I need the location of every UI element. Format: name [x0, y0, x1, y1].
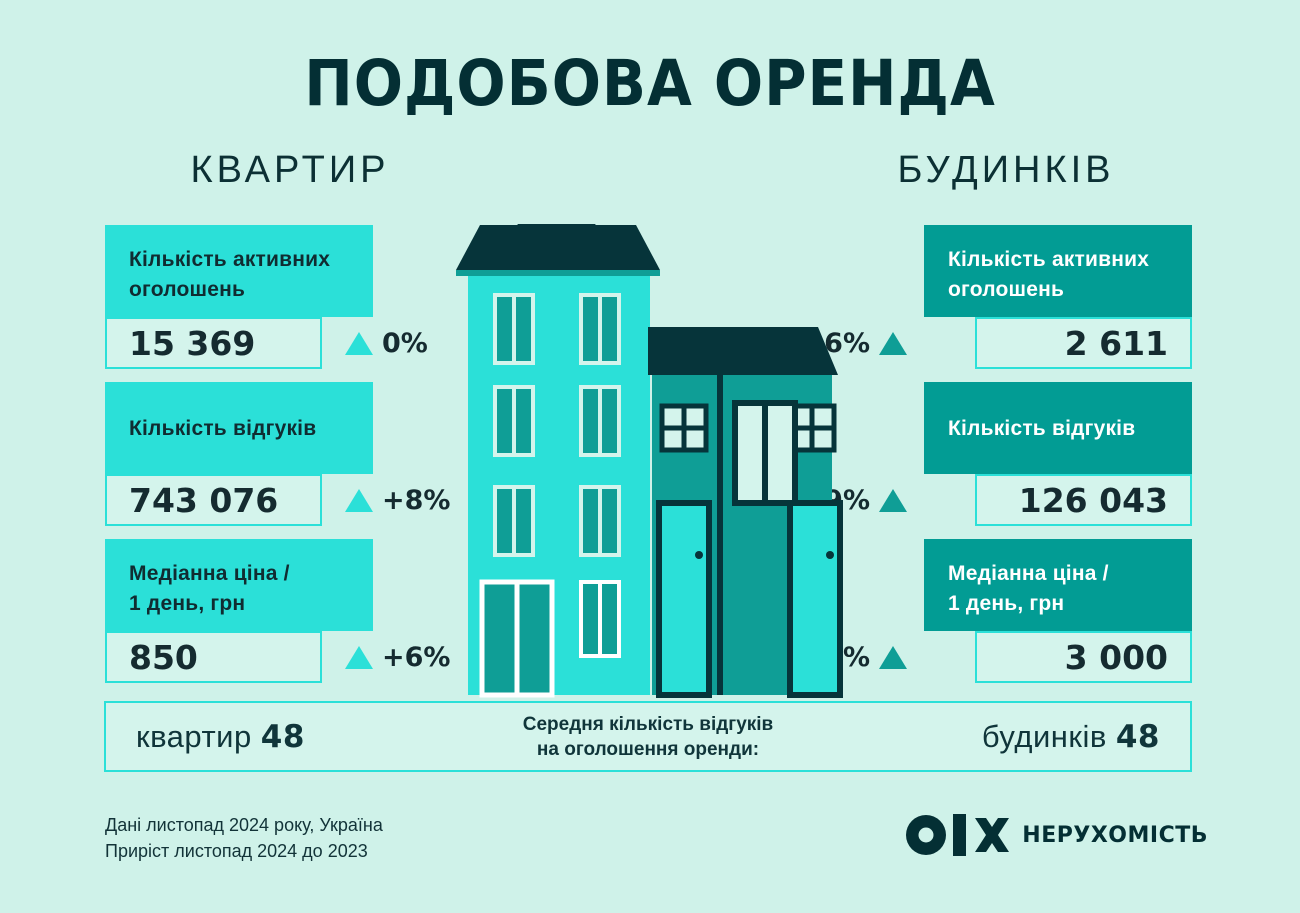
average-label-houses: будинків — [982, 719, 1107, 755]
card-value-box: 126 043 — [975, 474, 1192, 526]
card-label-text: Кількість активних оголошень — [948, 248, 1149, 301]
card-value: 126 043 — [1019, 484, 1168, 517]
card-label-text: Кількість активних оголошень — [129, 248, 330, 301]
card-value: 2 611 — [1065, 327, 1168, 360]
card-value-row: 743 076 +8% — [105, 474, 373, 526]
card-value-box: 3 000 — [975, 631, 1192, 683]
footnote-line-2: Приріст листопад 2024 до 2023 — [105, 838, 383, 864]
olx-mark-icon — [905, 814, 1009, 856]
average-responses-houses: будинків 48 — [982, 703, 1160, 770]
triangle-up-icon — [879, 646, 907, 669]
card-label: Кількість відгуків — [105, 382, 373, 474]
card-delta: +8% — [345, 474, 450, 526]
card-value-row: 850 +6% — [105, 631, 373, 683]
card-label: Медіанна ціна / 1 день, грн — [105, 539, 373, 631]
card-value-box: 15 369 — [105, 317, 322, 369]
olx-logo: НЕРУХОМІСТЬ — [905, 814, 1208, 856]
card-value-row: 126 043 +9% — [924, 474, 1192, 526]
triangle-up-icon — [879, 332, 907, 355]
column-heading-apartments: КВАРТИР — [105, 148, 475, 192]
triangle-up-icon — [879, 489, 907, 512]
card-value-box: 850 — [105, 631, 322, 683]
average-value-apartments: 48 — [261, 719, 305, 755]
card-value-row: 2 611 +16% — [924, 317, 1192, 369]
triangle-up-icon — [345, 646, 373, 669]
card-delta-text: 0% — [382, 328, 428, 359]
caption-line-2: на оголошення оренди: — [537, 737, 759, 762]
triangle-up-icon — [345, 489, 373, 512]
card-value-box: 743 076 — [105, 474, 322, 526]
card-value: 850 — [129, 641, 198, 674]
card-label: Медіанна ціна / 1 день, грн — [924, 539, 1192, 631]
card-label-text: Кількість відгуків — [948, 417, 1135, 440]
infographic-canvas: ПОДОБОВА ОРЕНДА КВАРТИР БУДИНКІВ Кількіс… — [0, 0, 1300, 913]
olx-wordmark: НЕРУХОМІСТЬ — [1022, 823, 1208, 848]
average-responses-apartments: квартир 48 — [136, 703, 305, 770]
page-title: ПОДОБОВА ОРЕНДА — [52, 52, 1248, 115]
card-value: 15 369 — [129, 327, 255, 360]
card-label-text: Медіанна ціна / 1 день, грн — [129, 562, 290, 615]
card-label-text: Медіанна ціна / 1 день, грн — [948, 562, 1109, 615]
triangle-up-icon — [345, 332, 373, 355]
average-responses-bar: Середня кількість відгуків на оголошення… — [104, 701, 1192, 772]
average-value-houses: 48 — [1116, 719, 1160, 755]
card-label-text: Кількість відгуків — [129, 417, 316, 440]
card-value-row: 3 000 +20% — [924, 631, 1192, 683]
card-label: Кількість відгуків — [924, 382, 1192, 474]
average-label-apartments: квартир — [136, 719, 252, 755]
card-value-row: 15 369 0% — [105, 317, 373, 369]
buildings-illustration — [440, 210, 860, 710]
caption-line-1: Середня кількість відгуків — [523, 712, 774, 737]
card-delta: +6% — [345, 631, 450, 683]
card-value: 743 076 — [129, 484, 278, 517]
column-heading-houses: БУДИНКІВ — [820, 148, 1192, 192]
card-value: 3 000 — [1065, 641, 1168, 674]
card-delta: 0% — [345, 317, 428, 369]
card-value-box: 2 611 — [975, 317, 1192, 369]
card-label: Кількість активних оголошень — [924, 225, 1192, 317]
footnote: Дані листопад 2024 року, Україна Приріст… — [105, 812, 383, 864]
footnote-line-1: Дані листопад 2024 року, Україна — [105, 812, 383, 838]
card-label: Кількість активних оголошень — [105, 225, 373, 317]
